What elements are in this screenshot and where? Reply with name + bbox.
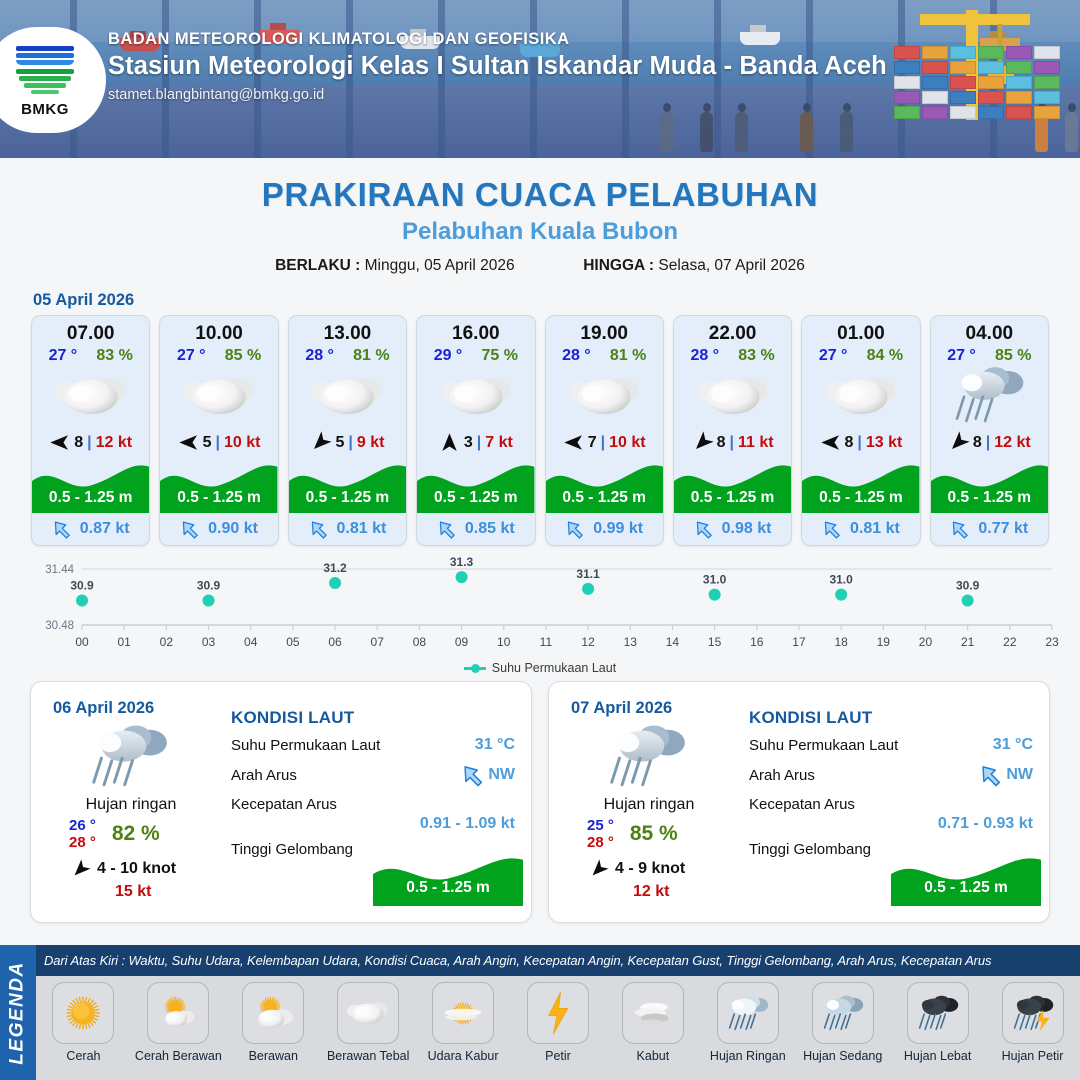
svg-text:23: 23	[1045, 635, 1059, 649]
sst-row: Suhu Permukaan Laut 31 °C	[749, 736, 1033, 754]
current-dir-value: NW	[488, 766, 515, 784]
sst-chart: 31.4430.48000102030405060708091011121314…	[20, 557, 1060, 657]
current-direction-arrow-icon	[52, 518, 74, 540]
hourly-card: 16.00 29 ° 75 % 3 | 7 kt 0.5 - 1.25 m	[416, 315, 535, 546]
svg-text:30.9: 30.9	[70, 579, 94, 593]
card-wave: 0.5 - 1.25 m	[931, 458, 1048, 513]
bmkg-logo: BMKG	[0, 27, 106, 133]
wind-direction-arrow-icon	[49, 432, 70, 453]
sst-value: 31 °C	[993, 736, 1033, 754]
hourly-card: 19.00 28 ° 81 % 7 | 10 kt 0.5 - 1.25 m	[545, 315, 664, 546]
card-hour: 16.00	[417, 316, 534, 345]
udara-kabur-icon	[432, 982, 494, 1044]
svg-text:10: 10	[497, 635, 511, 649]
card-wind: 8 | 13 kt	[802, 427, 919, 458]
card-temperature: 28 °	[305, 347, 334, 365]
daily-forecast-card: 07 April 2026 Hujan ringan 25 ° 28 ° 85 …	[548, 681, 1050, 923]
current-direction-arrow-icon	[180, 518, 202, 540]
svg-text:09: 09	[455, 635, 469, 649]
chart-legend-swatch	[464, 667, 486, 670]
card-current-speed: 0.98 kt	[722, 520, 772, 538]
current-direction-arrow-icon	[437, 518, 459, 540]
hourly-card: 10.00 27 ° 85 % 5 | 10 kt 0.5 - 1.25 m	[159, 315, 278, 546]
card-humidity: 83 %	[738, 347, 774, 365]
card-current-speed: 0.85 kt	[465, 520, 515, 538]
card-temperature: 27 °	[947, 347, 976, 365]
legend-item-label: Kabut	[637, 1049, 670, 1063]
legend-item-label: Cerah Berawan	[135, 1049, 222, 1063]
card-temperature: 27 °	[819, 347, 848, 365]
card-wind-separator: |	[857, 434, 861, 452]
svg-text:07: 07	[371, 635, 385, 649]
card-current: 0.85 kt	[417, 513, 534, 545]
current-speed-row: Kecepatan Arus	[231, 796, 515, 813]
daily-wind-speed: 4 - 9 knot	[615, 860, 685, 878]
legend-item: Udara Kabur	[416, 982, 511, 1063]
card-wave-height: 0.5 - 1.25 m	[931, 489, 1048, 507]
sea-section-title: KONDISI LAUT	[231, 708, 515, 728]
current-dir-value-wrap: NW	[979, 762, 1033, 788]
legend-item: Petir	[511, 982, 606, 1063]
validity-row: BERLAKU : Minggu, 05 April 2026 HINGGA :…	[0, 257, 1080, 275]
hingga-value: Selasa, 07 April 2026	[658, 257, 805, 274]
wind-direction-arrow-icon	[820, 432, 841, 453]
svg-text:18: 18	[834, 635, 848, 649]
svg-text:31.2: 31.2	[323, 561, 347, 575]
svg-text:15: 15	[708, 635, 722, 649]
card-temp-hum: 27 ° 84 %	[802, 345, 919, 365]
hourly-card: 13.00 28 ° 81 % 5 | 9 kt 0.5 - 1.25 m	[288, 315, 407, 546]
legend-item-label: Hujan Petir	[1002, 1049, 1064, 1063]
card-hour: 22.00	[674, 316, 791, 345]
svg-text:17: 17	[792, 635, 806, 649]
cerah-icon	[52, 982, 114, 1044]
card-humidity: 83 %	[96, 347, 132, 365]
card-wave-height: 0.5 - 1.25 m	[802, 489, 919, 507]
card-temperature: 27 °	[49, 347, 78, 365]
svg-text:30.9: 30.9	[956, 579, 980, 593]
current-dir-row: Arah Arus NW	[749, 762, 1033, 788]
sst-value: 31 °C	[475, 736, 515, 754]
card-current: 0.81 kt	[802, 513, 919, 545]
wind-direction-arrow-icon	[948, 432, 969, 453]
current-direction-arrow-icon	[694, 518, 716, 540]
legend-item: Cerah	[36, 982, 131, 1063]
current-dir-row: Arah Arus NW	[231, 762, 515, 788]
card-wind-gust: 10 kt	[609, 434, 645, 452]
hourly-card: 01.00 27 ° 84 % 8 | 13 kt 0.5 - 1.25 m	[801, 315, 920, 546]
svg-text:20: 20	[919, 635, 933, 649]
card-wind-degree: 8	[74, 434, 83, 452]
card-wind-degree: 8	[717, 434, 726, 452]
current-speed-label: Kecepatan Arus	[749, 796, 855, 813]
svg-text:31.0: 31.0	[703, 573, 727, 587]
card-wave: 0.5 - 1.25 m	[32, 458, 149, 513]
daily-temps: 25 ° 28 ° 85 %	[571, 817, 745, 852]
daily-temp-max: 28 °	[69, 834, 96, 851]
daily-humidity: 85 %	[630, 822, 678, 846]
daily-left: 06 April 2026 Hujan ringan 26 ° 28 ° 82 …	[31, 682, 227, 922]
svg-text:03: 03	[202, 635, 216, 649]
current-dir-value: NW	[1006, 766, 1033, 784]
page-subtitle: Pelabuhan Kuala Bubon	[0, 218, 1080, 246]
card-current: 0.99 kt	[546, 513, 663, 545]
daily-humidity: 82 %	[112, 822, 160, 846]
legend-item: Berawan	[226, 982, 321, 1063]
card-temp-hum: 27 ° 85 %	[160, 345, 277, 365]
card-temperature: 27 °	[177, 347, 206, 365]
card-wind-gust: 10 kt	[224, 434, 260, 452]
chart-legend: Suhu Permukaan Laut	[0, 661, 1080, 675]
card-temp-hum: 27 ° 85 %	[931, 345, 1048, 365]
svg-text:22: 22	[1003, 635, 1017, 649]
card-wind-separator: |	[986, 434, 990, 452]
card-current-speed: 0.99 kt	[593, 520, 643, 538]
svg-text:02: 02	[160, 635, 174, 649]
svg-text:08: 08	[413, 635, 427, 649]
agency-name: BADAN METEOROLOGI KLIMATOLOGI DAN GEOFIS…	[108, 30, 887, 49]
card-wind: 5 | 9 kt	[289, 427, 406, 458]
petir-icon	[527, 982, 589, 1044]
wind-direction-arrow-icon	[310, 432, 331, 453]
card-wind-degree: 7	[588, 434, 597, 452]
daily-wind-arrow-icon	[589, 860, 608, 879]
wind-direction-arrow-icon	[178, 432, 199, 453]
card-weather-icon	[417, 365, 534, 427]
legend-side-text: LEGENDA	[7, 961, 29, 1064]
daily-weather-icon	[53, 718, 227, 796]
hourly-card: 07.00 27 ° 83 % 8 | 12 kt 0.5 - 1.25 m	[31, 315, 150, 546]
berawan-icon	[242, 982, 304, 1044]
card-wind-separator: |	[87, 434, 91, 452]
daily-weather-icon	[571, 718, 745, 796]
card-wind-gust: 7 kt	[485, 434, 513, 452]
svg-text:31.0: 31.0	[829, 573, 853, 587]
card-humidity: 75 %	[481, 347, 517, 365]
legend-item: Hujan Lebat	[890, 982, 985, 1063]
svg-text:31.1: 31.1	[576, 567, 600, 581]
card-wave-height: 0.5 - 1.25 m	[160, 489, 277, 507]
wind-direction-arrow-icon	[563, 432, 584, 453]
wind-direction-arrow-icon	[692, 432, 713, 453]
card-hour: 07.00	[32, 316, 149, 345]
card-humidity: 81 %	[610, 347, 646, 365]
legend-item-label: Udara Kabur	[428, 1049, 499, 1063]
wave-label: Tinggi Gelombang	[749, 841, 871, 858]
card-hour: 04.00	[931, 316, 1048, 345]
card-current-speed: 0.87 kt	[80, 520, 130, 538]
legend-item: Cerah Berawan	[131, 982, 226, 1063]
legend-side-title: LEGENDA	[0, 945, 36, 1080]
daily-date: 06 April 2026	[53, 699, 227, 718]
svg-text:16: 16	[750, 635, 764, 649]
card-temp-hum: 28 ° 81 %	[289, 345, 406, 365]
card-wind: 7 | 10 kt	[546, 427, 663, 458]
hourly-card: 04.00 27 ° 85 % 8 | 12 kt 0.5 - 1.25 m	[930, 315, 1049, 546]
legend-item-label: Berawan	[249, 1049, 298, 1063]
card-temperature: 29 °	[434, 347, 463, 365]
card-hour: 01.00	[802, 316, 919, 345]
card-wind-degree: 5	[203, 434, 212, 452]
current-direction-arrow-icon	[461, 762, 487, 788]
hingga-label: HINGGA :	[583, 257, 654, 274]
card-humidity: 84 %	[867, 347, 903, 365]
daily-forecast-row: 06 April 2026 Hujan ringan 26 ° 28 ° 82 …	[0, 675, 1080, 923]
daily-condition: Hujan ringan	[53, 796, 227, 814]
card-wind-degree: 3	[464, 434, 473, 452]
shipping-containers	[894, 46, 1074, 124]
card-wind-degree: 5	[335, 434, 344, 452]
card-hour: 13.00	[289, 316, 406, 345]
sst-label: Suhu Permukaan Laut	[749, 737, 898, 754]
hujan-petir-icon	[1002, 982, 1064, 1044]
legend-item: Hujan Petir	[985, 982, 1080, 1063]
card-current-speed: 0.81 kt	[850, 520, 900, 538]
legend-item: Hujan Sedang	[795, 982, 890, 1063]
card-wind-gust: 12 kt	[96, 434, 132, 452]
svg-text:30.9: 30.9	[197, 579, 221, 593]
cerah-berawan-icon	[147, 982, 209, 1044]
legend-note: Dari Atas Kiri : Waktu, Suhu Udara, Kele…	[36, 945, 1080, 976]
card-wind: 8 | 12 kt	[32, 427, 149, 458]
card-wind-degree: 8	[845, 434, 854, 452]
daily-temps: 26 ° 28 ° 82 %	[53, 817, 227, 852]
card-hour: 19.00	[546, 316, 663, 345]
daily-wave-graphic: 0.5 - 1.25 m	[891, 844, 1041, 906]
card-weather-icon	[289, 365, 406, 427]
card-current: 0.81 kt	[289, 513, 406, 545]
card-current-speed: 0.81 kt	[337, 520, 387, 538]
current-direction-arrow-icon	[979, 762, 1005, 788]
wind-direction-arrow-icon	[439, 432, 460, 453]
current-speed-label: Kecepatan Arus	[231, 796, 337, 813]
card-hour: 10.00	[160, 316, 277, 345]
sea-section-title: KONDISI LAUT	[749, 708, 1033, 728]
card-weather-icon	[802, 365, 919, 427]
hourly-forecast-row: 07.00 27 ° 83 % 8 | 12 kt 0.5 - 1.25 m	[0, 315, 1080, 546]
card-wind-separator: |	[729, 434, 733, 452]
card-wave-height: 0.5 - 1.25 m	[546, 489, 663, 507]
daily-sea-conditions: KONDISI LAUT Suhu Permukaan Laut 31 °C A…	[745, 682, 1049, 922]
daily-left: 07 April 2026 Hujan ringan 25 ° 28 ° 85 …	[549, 682, 745, 922]
kabut-icon	[622, 982, 684, 1044]
card-weather-icon	[32, 365, 149, 427]
daily-sea-conditions: KONDISI LAUT Suhu Permukaan Laut 31 °C A…	[227, 682, 531, 922]
card-wave: 0.5 - 1.25 m	[802, 458, 919, 513]
card-current: 0.87 kt	[32, 513, 149, 545]
svg-text:21: 21	[961, 635, 975, 649]
current-speed-value: 0.91 - 1.09 kt	[231, 815, 515, 833]
wave-label: Tinggi Gelombang	[231, 841, 353, 858]
card-wind-gust: 13 kt	[866, 434, 902, 452]
sst-chart-svg: 31.4430.48000102030405060708091011121314…	[20, 557, 1060, 657]
card-wind-separator: |	[601, 434, 605, 452]
card-wind-gust: 12 kt	[994, 434, 1030, 452]
card-temp-hum: 27 ° 83 %	[32, 345, 149, 365]
card-weather-icon	[674, 365, 791, 427]
hujan-sedang-icon	[812, 982, 874, 1044]
card-temp-hum: 29 ° 75 %	[417, 345, 534, 365]
daily-wave-graphic: 0.5 - 1.25 m	[373, 844, 523, 906]
current-direction-arrow-icon	[822, 518, 844, 540]
svg-text:19: 19	[877, 635, 891, 649]
legend-bar: LEGENDA Dari Atas Kiri : Waktu, Suhu Uda…	[0, 945, 1080, 1080]
daily-temp-min: 25 °	[587, 817, 614, 834]
current-dir-label: Arah Arus	[231, 767, 297, 784]
svg-text:12: 12	[581, 635, 595, 649]
berlaku-value: Minggu, 05 April 2026	[365, 257, 515, 274]
card-current: 0.77 kt	[931, 513, 1048, 545]
bmkg-logo-mark	[16, 42, 74, 100]
card-wind: 5 | 10 kt	[160, 427, 277, 458]
card-weather-icon	[546, 365, 663, 427]
legend-item-label: Hujan Sedang	[803, 1049, 882, 1063]
card-current: 0.90 kt	[160, 513, 277, 545]
current-direction-arrow-icon	[565, 518, 587, 540]
legend-item-label: Cerah	[66, 1049, 100, 1063]
card-humidity: 85 %	[995, 347, 1031, 365]
svg-text:13: 13	[624, 635, 638, 649]
card-wave-height: 0.5 - 1.25 m	[32, 489, 149, 507]
page-title: PRAKIRAAN CUACA PELABUHAN	[0, 176, 1080, 214]
daily-temp-max: 28 °	[587, 834, 614, 851]
header-text-block: BADAN METEOROLOGI KLIMATOLOGI DAN GEOFIS…	[108, 30, 887, 103]
legend-items: Cerah Cerah Berawan Berawan Berawan Teba…	[36, 976, 1080, 1080]
sst-label: Suhu Permukaan Laut	[231, 737, 380, 754]
legend-item-label: Berawan Tebal	[327, 1049, 409, 1063]
page-header: BMKG BADAN METEOROLOGI KLIMATOLOGI DAN G…	[0, 0, 1080, 158]
card-wave: 0.5 - 1.25 m	[289, 458, 406, 513]
card-wind: 3 | 7 kt	[417, 427, 534, 458]
daily-wind: 4 - 9 knot	[571, 860, 745, 879]
berlaku-label: BERLAKU :	[275, 257, 360, 274]
hujan-ringan-icon	[717, 982, 779, 1044]
card-wind-separator: |	[477, 434, 481, 452]
svg-text:31.3: 31.3	[450, 557, 474, 569]
card-temperature: 28 °	[690, 347, 719, 365]
svg-text:01: 01	[117, 635, 131, 649]
daily-wind-gust: 15 kt	[53, 883, 227, 901]
card-wind-degree: 8	[973, 434, 982, 452]
svg-text:06: 06	[328, 635, 342, 649]
card-wind-separator: |	[216, 434, 220, 452]
card-wave: 0.5 - 1.25 m	[417, 458, 534, 513]
legend-item: Hujan Ringan	[700, 982, 795, 1063]
station-email: stamet.blangbintang@bmkg.go.id	[108, 87, 887, 103]
card-wave-height: 0.5 - 1.25 m	[289, 489, 406, 507]
hourly-date-label: 05 April 2026	[33, 291, 1080, 310]
svg-text:31.44: 31.44	[45, 564, 74, 576]
card-wave: 0.5 - 1.25 m	[674, 458, 791, 513]
hourly-card: 22.00 28 ° 83 % 8 | 11 kt 0.5 - 1.25 m	[673, 315, 792, 546]
card-wave: 0.5 - 1.25 m	[546, 458, 663, 513]
card-current-speed: 0.77 kt	[978, 520, 1028, 538]
card-weather-icon	[160, 365, 277, 427]
legend-item-label: Hujan Ringan	[710, 1049, 786, 1063]
legend-item: Kabut	[605, 982, 700, 1063]
card-humidity: 85 %	[225, 347, 261, 365]
sst-row: Suhu Permukaan Laut 31 °C	[231, 736, 515, 754]
current-dir-value-wrap: NW	[461, 762, 515, 788]
card-wind-gust: 11 kt	[738, 434, 774, 452]
card-current-speed: 0.90 kt	[208, 520, 258, 538]
berawan-tebal-icon	[337, 982, 399, 1044]
chart-legend-label: Suhu Permukaan Laut	[492, 661, 616, 675]
card-temp-hum: 28 ° 83 %	[674, 345, 791, 365]
daily-wind-arrow-icon	[71, 860, 90, 879]
legend-item: Berawan Tebal	[321, 982, 416, 1063]
svg-text:30.48: 30.48	[45, 620, 74, 632]
current-direction-arrow-icon	[950, 518, 972, 540]
title-block: PRAKIRAAN CUACA PELABUHAN Pelabuhan Kual…	[0, 158, 1080, 275]
station-name: Stasiun Meteorologi Kelas I Sultan Iskan…	[108, 52, 887, 81]
card-weather-icon	[931, 365, 1048, 427]
card-temperature: 28 °	[562, 347, 591, 365]
svg-text:11: 11	[540, 635, 553, 649]
legend-item-label: Hujan Lebat	[904, 1049, 971, 1063]
daily-wave-value: 0.5 - 1.25 m	[373, 879, 523, 897]
daily-wind-gust: 12 kt	[571, 883, 745, 901]
card-current: 0.98 kt	[674, 513, 791, 545]
bmkg-logo-text: BMKG	[21, 101, 69, 118]
card-wind: 8 | 12 kt	[931, 427, 1048, 458]
card-temp-hum: 28 ° 81 %	[546, 345, 663, 365]
svg-text:05: 05	[286, 635, 300, 649]
daily-forecast-card: 06 April 2026 Hujan ringan 26 ° 28 ° 82 …	[30, 681, 532, 923]
svg-text:14: 14	[666, 635, 680, 649]
card-wave: 0.5 - 1.25 m	[160, 458, 277, 513]
card-wind: 8 | 11 kt	[674, 427, 791, 458]
daily-wind-speed: 4 - 10 knot	[97, 860, 176, 878]
card-wind-gust: 9 kt	[357, 434, 385, 452]
daily-wind: 4 - 10 knot	[53, 860, 227, 879]
card-wind-separator: |	[348, 434, 352, 452]
svg-text:04: 04	[244, 635, 258, 649]
daily-temp-min: 26 °	[69, 817, 96, 834]
current-speed-row: Kecepatan Arus	[749, 796, 1033, 813]
current-direction-arrow-icon	[309, 518, 331, 540]
card-humidity: 81 %	[353, 347, 389, 365]
current-speed-value: 0.71 - 0.93 kt	[749, 815, 1033, 833]
daily-date: 07 April 2026	[571, 699, 745, 718]
daily-condition: Hujan ringan	[571, 796, 745, 814]
hujan-lebat-icon	[907, 982, 969, 1044]
daily-wave-value: 0.5 - 1.25 m	[891, 879, 1041, 897]
legend-item-label: Petir	[545, 1049, 571, 1063]
card-wave-height: 0.5 - 1.25 m	[674, 489, 791, 507]
card-wave-height: 0.5 - 1.25 m	[417, 489, 534, 507]
svg-text:00: 00	[75, 635, 89, 649]
current-dir-label: Arah Arus	[749, 767, 815, 784]
